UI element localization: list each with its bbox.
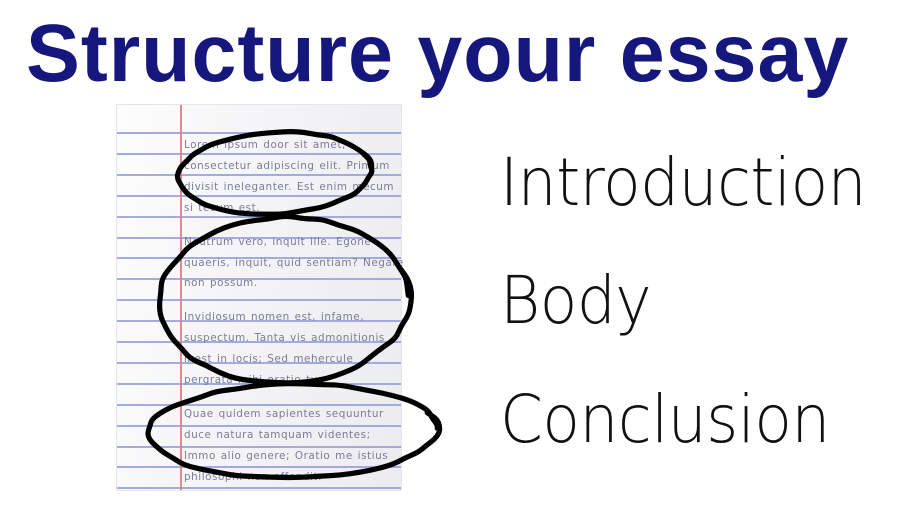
- paragraph-1: Lorem ipsum door sit amet, consectetur a…: [184, 135, 406, 219]
- paper-margin-line: [180, 105, 182, 490]
- rule-line: [117, 132, 401, 134]
- structure-word-body: Body: [500, 268, 651, 334]
- page-title: Structure your essay: [26, 8, 861, 100]
- structure-word-introduction: Introduction: [500, 150, 866, 216]
- lined-notebook-paper: Lorem ipsum door sit amet, consectetur a…: [117, 105, 401, 490]
- rule-line: [117, 487, 401, 489]
- paper-body-text: Lorem ipsum door sit amet, consectetur a…: [184, 135, 406, 488]
- structure-word-conclusion: Conclusion: [500, 387, 830, 453]
- paragraph-2: Neutrum vero, inquit ille. Egone quaeris…: [184, 232, 406, 295]
- slide-canvas: Structure your essay Lorem ipsum door si…: [0, 0, 900, 506]
- paragraph-4: Quae quidem sapientes sequuntur duce nat…: [184, 404, 406, 488]
- paragraph-3: Invidiosum nomen est, infame, suspectum.…: [184, 307, 406, 391]
